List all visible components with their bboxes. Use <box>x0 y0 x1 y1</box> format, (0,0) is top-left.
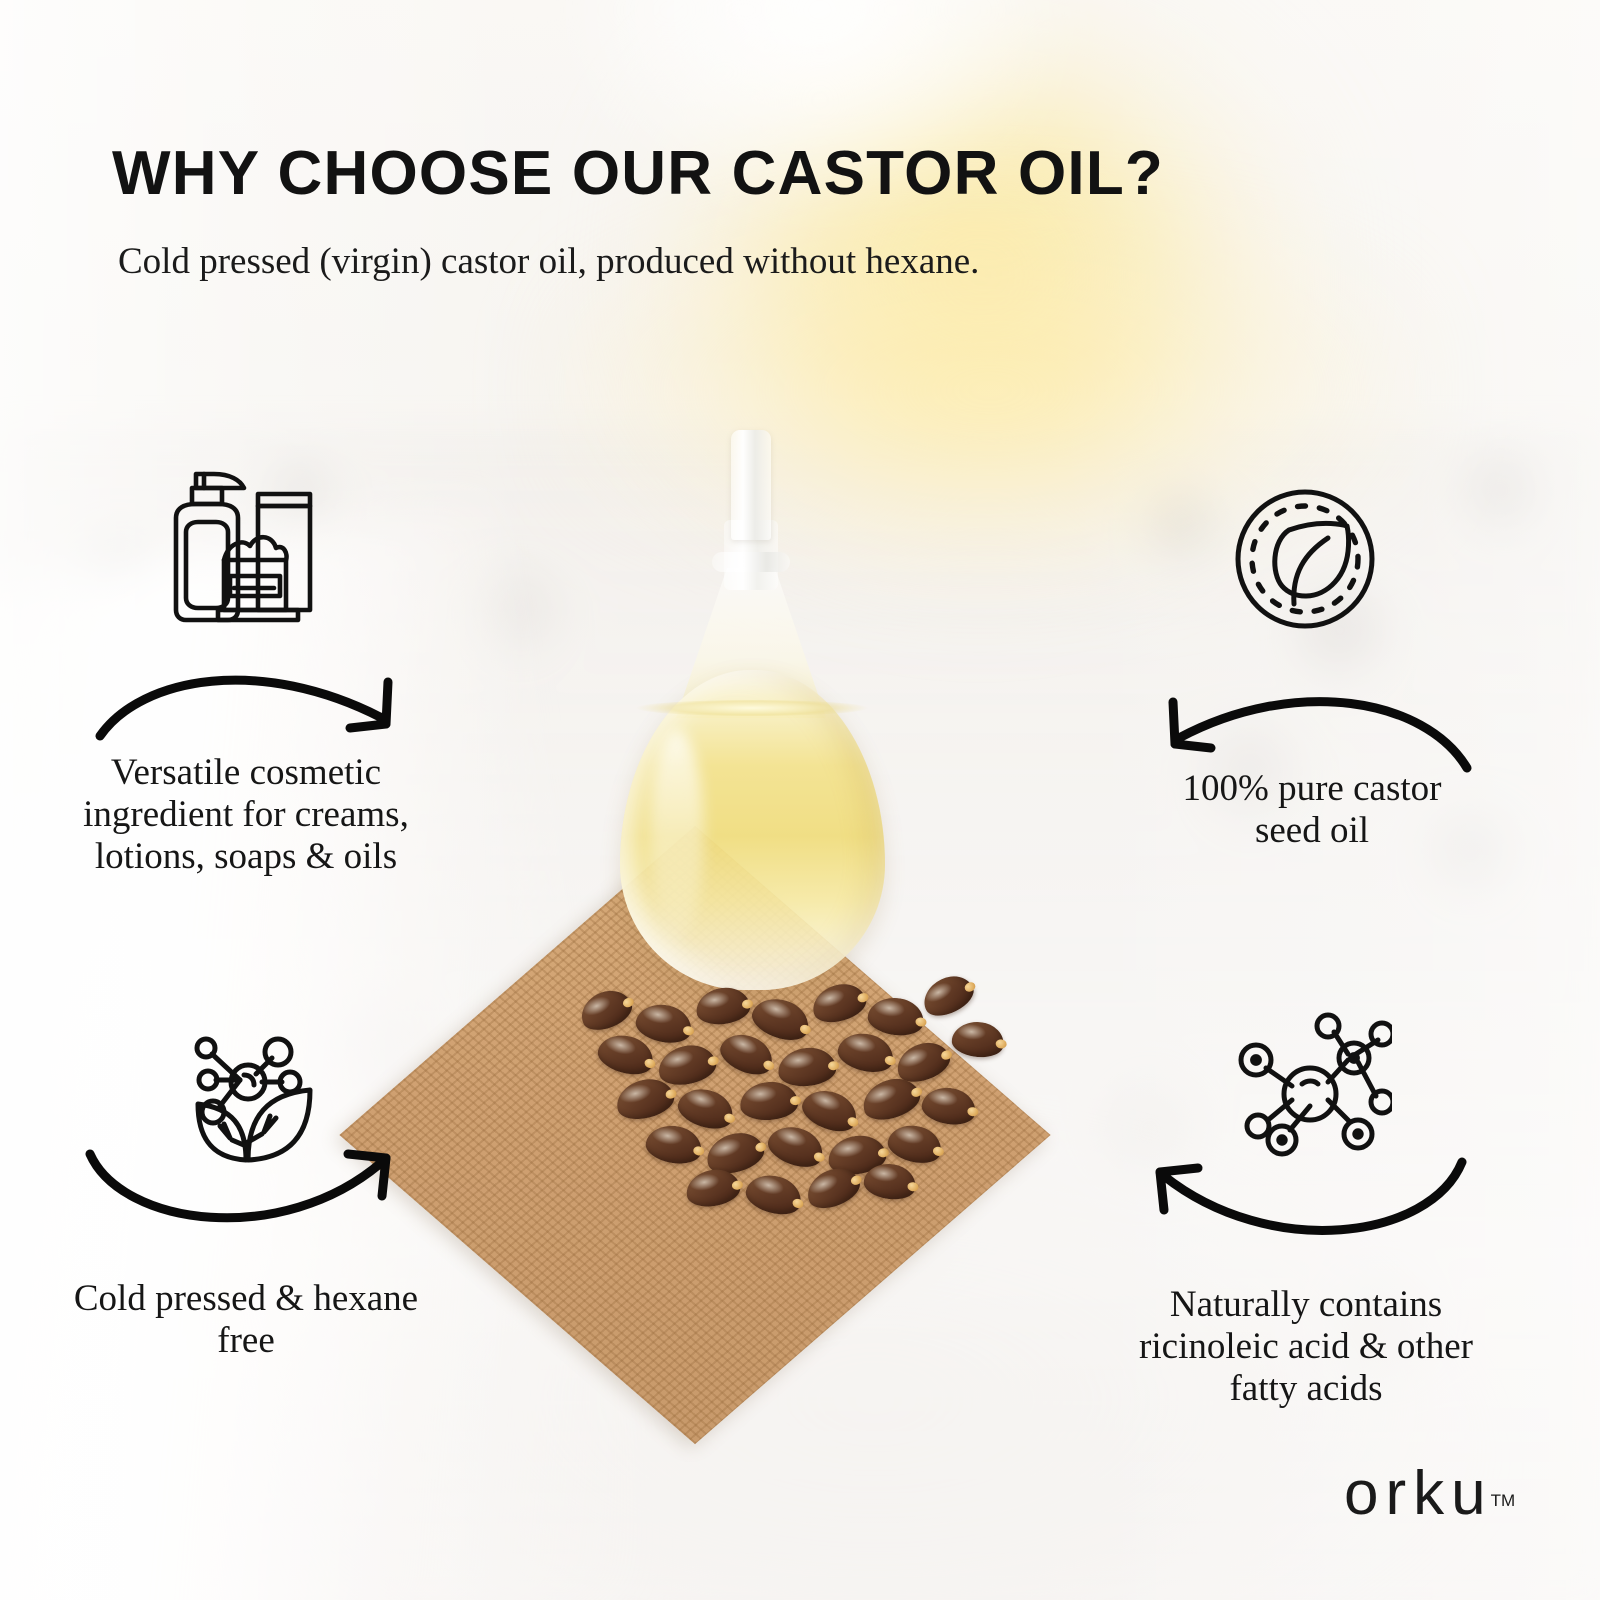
callout-text-ricinoleic-acid: Naturally contains ricinoleic acid & oth… <box>1096 1284 1516 1411</box>
brand-name: orku <box>1344 1459 1493 1528</box>
molecule-icon <box>1232 1010 1392 1162</box>
trademark-symbol: TM <box>1491 1491 1516 1510</box>
page-title: WHY CHOOSE OUR CASTOR OIL? <box>112 143 1164 205</box>
leaf-badge-icon <box>1232 486 1378 632</box>
bottle-collar <box>712 552 790 572</box>
curved-arrow-left-up <box>1140 1150 1470 1260</box>
bottle-stopper <box>731 430 771 540</box>
oil-surface-line <box>636 700 868 716</box>
callout-text-cold-pressed-hexane-free: Cold pressed & hexane free <box>36 1278 456 1362</box>
bottle-highlight <box>650 730 704 940</box>
page-subtitle: Cold pressed (virgin) castor oil, produc… <box>118 243 979 280</box>
callout-text-pure-castor-seed-oil: 100% pure castor seed oil <box>1140 768 1484 852</box>
product-photo <box>440 400 1140 1230</box>
infographic-canvas: WHY CHOOSE OUR CASTOR OIL? Cold pressed … <box>0 0 1600 1600</box>
cosmetics-set-icon <box>146 448 334 630</box>
castor-seed <box>917 968 979 1022</box>
callout-text-versatile-cosmetic: Versatile cosmetic ingredient for creams… <box>46 752 446 879</box>
brand-logo: orkuTM <box>1344 1463 1515 1525</box>
castor-seed <box>950 1019 1005 1059</box>
curved-arrow-right-down <box>92 648 422 758</box>
curved-arrow-right-up <box>82 1140 402 1248</box>
curved-arrow-left-down <box>1145 672 1475 780</box>
